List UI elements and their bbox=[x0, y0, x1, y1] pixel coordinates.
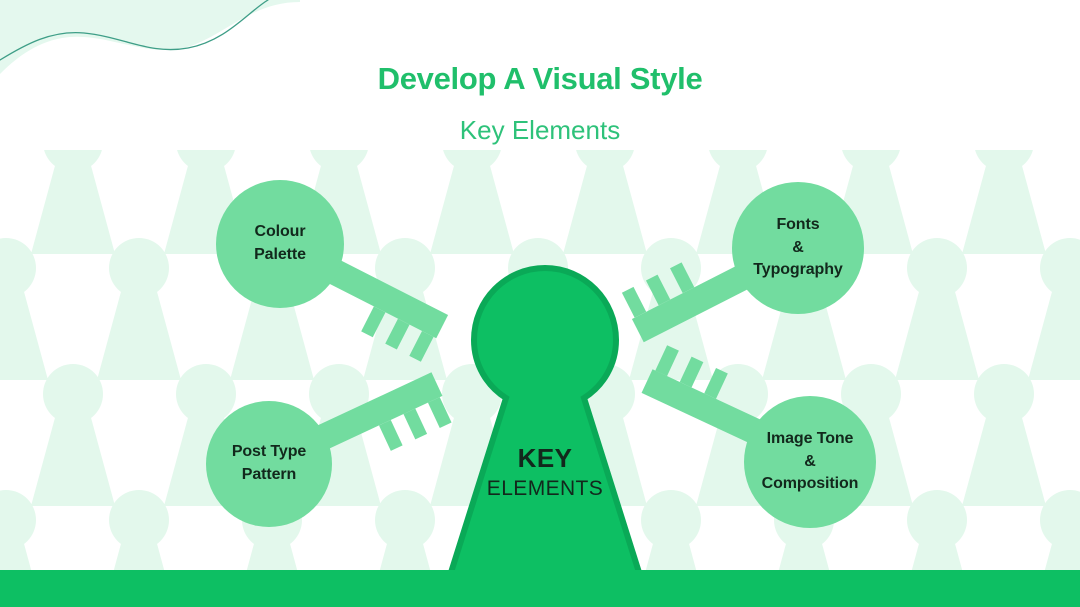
node-image-tone-composition-label: Image Tone & Composition bbox=[756, 428, 865, 496]
footer-bar bbox=[0, 570, 1080, 607]
page-subtitle: Key Elements bbox=[0, 116, 1080, 145]
page-title: Develop A Visual Style bbox=[0, 62, 1080, 96]
node-fonts-typography-label: Fonts & Typography bbox=[747, 214, 848, 282]
slide-canvas: KEY ELEMENTS Develop A Visual Style Key … bbox=[0, 0, 1080, 607]
center-primary-label: KEY bbox=[430, 445, 660, 472]
node-colour-palette-label: Colour Palette bbox=[248, 221, 312, 266]
node-post-type-pattern-label: Post Type Pattern bbox=[226, 441, 312, 486]
node-image-tone-composition[interactable]: Image Tone & Composition bbox=[744, 396, 876, 528]
keyhole-tile-pattern bbox=[0, 150, 1080, 580]
node-fonts-typography[interactable]: Fonts & Typography bbox=[732, 182, 864, 314]
node-colour-palette[interactable]: Colour Palette bbox=[216, 180, 344, 308]
keyhole-icon bbox=[430, 262, 660, 607]
heading-block: Develop A Visual Style Key Elements bbox=[0, 62, 1080, 145]
center-keyhole-label: KEY ELEMENTS bbox=[430, 445, 660, 500]
center-secondary-label: ELEMENTS bbox=[430, 478, 660, 500]
node-post-type-pattern[interactable]: Post Type Pattern bbox=[206, 401, 332, 527]
